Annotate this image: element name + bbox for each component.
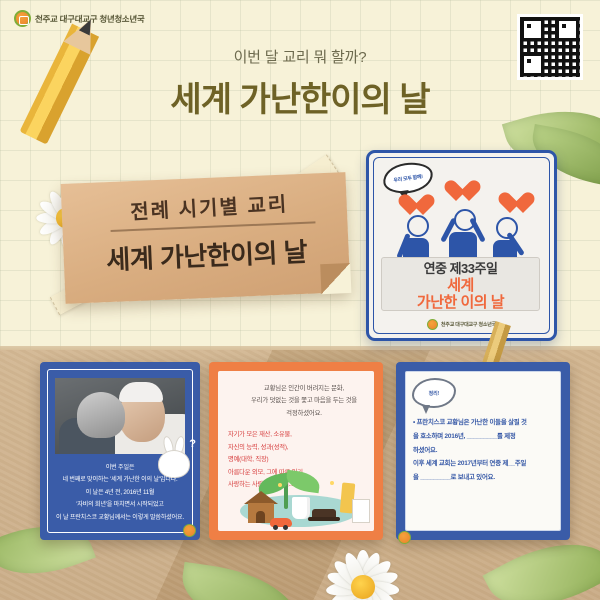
orange-card: 교황님은 인간이 버려지는 문화, 우리가 덧없는 것을 쫓고 마음을 두는 것… (209, 362, 383, 540)
orange-circle-logo-icon (14, 10, 31, 27)
photo-line-3: 이 날은 4년 전, 2016년 11월 (49, 487, 191, 499)
orange-intro-1: 교황님은 인간이 버려지는 문화, (226, 383, 374, 395)
memo-title: 세계 가난한이의 날 (81, 231, 332, 278)
blue-card-label: 연중 제33주일 세계 가난한 이의 날 (381, 257, 540, 311)
photo-card: ? 이번 주일은 네 번째로 맞이하는 '세계 가난한 이의 날'입니다. 이 … (40, 362, 200, 540)
blue-label-top: 연중 제33주일 (424, 258, 498, 277)
worksheet-line-5: 을 _________로 보내고 있어요. (413, 471, 553, 485)
worksheet-line-2: 을 호소하며 2016년, _________를 제정 (413, 430, 553, 444)
orange-card-intro: 교황님은 인간이 버려지는 문화, 우리가 덧없는 것을 쫓고 마음을 두는 것… (226, 383, 374, 420)
photo-line-2: 네 번째로 맞이하는 '세계 가난한 이의 날'입니다. (49, 474, 191, 486)
orange-circle-logo-icon (427, 319, 438, 330)
org-logo-label: 천주교 대구대교구 청년청소년국 (35, 13, 145, 25)
orange-list-3: 명예(대학, 직장) (228, 454, 303, 467)
bubble-label: 우리 모두 함께! (393, 172, 423, 183)
memo-heading: 전례 시기별 교리 (91, 186, 327, 227)
worksheet-line-3: 하셨어요. (413, 444, 553, 458)
blue-label-main-1: 세계 (447, 278, 474, 294)
worksheet-line-1: • 프란치스코 교황님은 가난한 이들을 살필 것 (413, 416, 553, 430)
blue-card-footer-logo: 천주교 대구대교구 청소년국 (369, 319, 554, 330)
photo-line-1: 이번 주일은 (49, 462, 191, 474)
logo-stamp-icon (183, 524, 196, 537)
sprout-house-possessions-icon (218, 469, 374, 531)
memo-note-card: 전례 시기별 교리 세계 가난한이의 날 (61, 172, 351, 304)
infographic-canvas: 천주교 대구대교구 청년청소년국 이번 달 교리 뭐 할까? 세계 가난한이의 … (0, 0, 600, 600)
photo-line-5: 이 날 프란치스코 교황님께서는 이렇게 말씀하셨어요. (49, 512, 191, 524)
orange-intro-3: 걱정하셨어요. (226, 408, 374, 420)
worksheet-card: 정리! • 프란치스코 교황님은 가난한 이들을 살필 것 을 호소하며 201… (396, 362, 570, 540)
page-subtitle: 이번 달 교리 뭐 할까? (0, 46, 600, 67)
orange-list-1: 자기가 모은 재산, 소유물, (228, 429, 303, 442)
worksheet-text[interactable]: • 프란치스코 교황님은 가난한 이들을 살필 것 을 호소하며 2016년, … (413, 416, 553, 485)
heart-icon (443, 181, 477, 212)
heart-icon (497, 193, 523, 217)
orange-intro-2: 우리가 덧없는 것을 쫓고 마음을 두는 것을 (226, 395, 374, 407)
page-title: 세계 가난한이의 날 (0, 72, 600, 121)
orange-list-2: 자신의 능력, 성과(성적), (228, 442, 303, 455)
worksheet-line-4: 이후 세계 교회는 2017년부터 연중 제__주일 (413, 457, 553, 471)
worksheet-bubble-label: 정리! (429, 390, 440, 397)
blue-illustration-card: 우리 모두 함께! 연중 제33주일 세계 가난한 이의 (366, 150, 557, 341)
photo-card-text: 이번 주일은 네 번째로 맞이하는 '세계 가난한 이의 날'입니다. 이 날은… (49, 462, 191, 524)
photo-line-4: '자비의 희년'을 마치면서 시작되었고 (49, 499, 191, 511)
logo-stamp-icon (398, 531, 411, 544)
org-logo: 천주교 대구대교구 청년청소년국 (14, 10, 144, 27)
blue-label-main-2: 가난한 이의 날 (417, 295, 504, 311)
daisy-flower-icon (324, 548, 402, 600)
blue-card-footer-label: 천주교 대구대교구 청소년국 (441, 321, 496, 328)
